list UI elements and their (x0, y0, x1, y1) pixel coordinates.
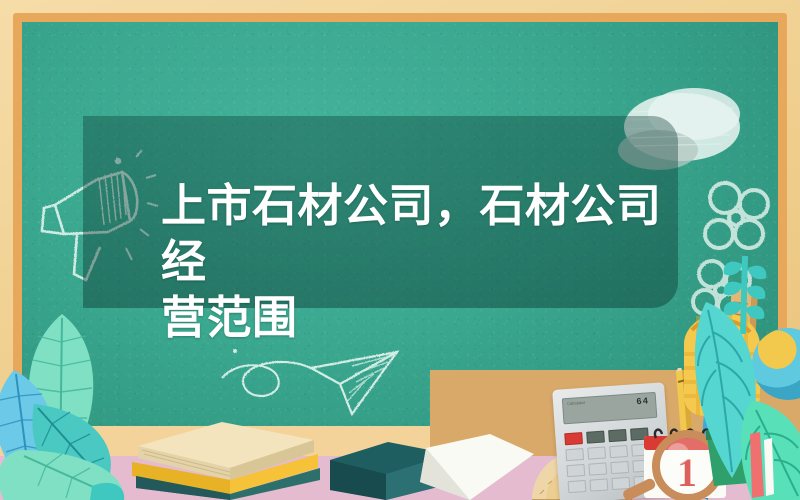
poster-canvas: 上市石材公司，石材公司经 营范围 (0, 0, 800, 500)
misc-stationery-strip (744, 430, 784, 500)
calculator-key-ce[interactable] (586, 431, 605, 444)
calculator-key-2[interactable] (590, 478, 609, 491)
title-line-1: 上市石材公司，石材公司经 (161, 178, 671, 290)
calculator-key-7[interactable] (565, 448, 584, 461)
calculator-key-4[interactable] (566, 464, 585, 477)
calculator-key-ac[interactable] (564, 432, 583, 445)
calculator-key-5[interactable] (588, 462, 607, 475)
calculator-key-8[interactable] (587, 446, 606, 459)
calculator-display-value: 64 (636, 396, 649, 407)
paper-sheet (420, 430, 540, 500)
calculator-key-1[interactable] (568, 480, 587, 493)
book-stack-left (118, 418, 328, 500)
